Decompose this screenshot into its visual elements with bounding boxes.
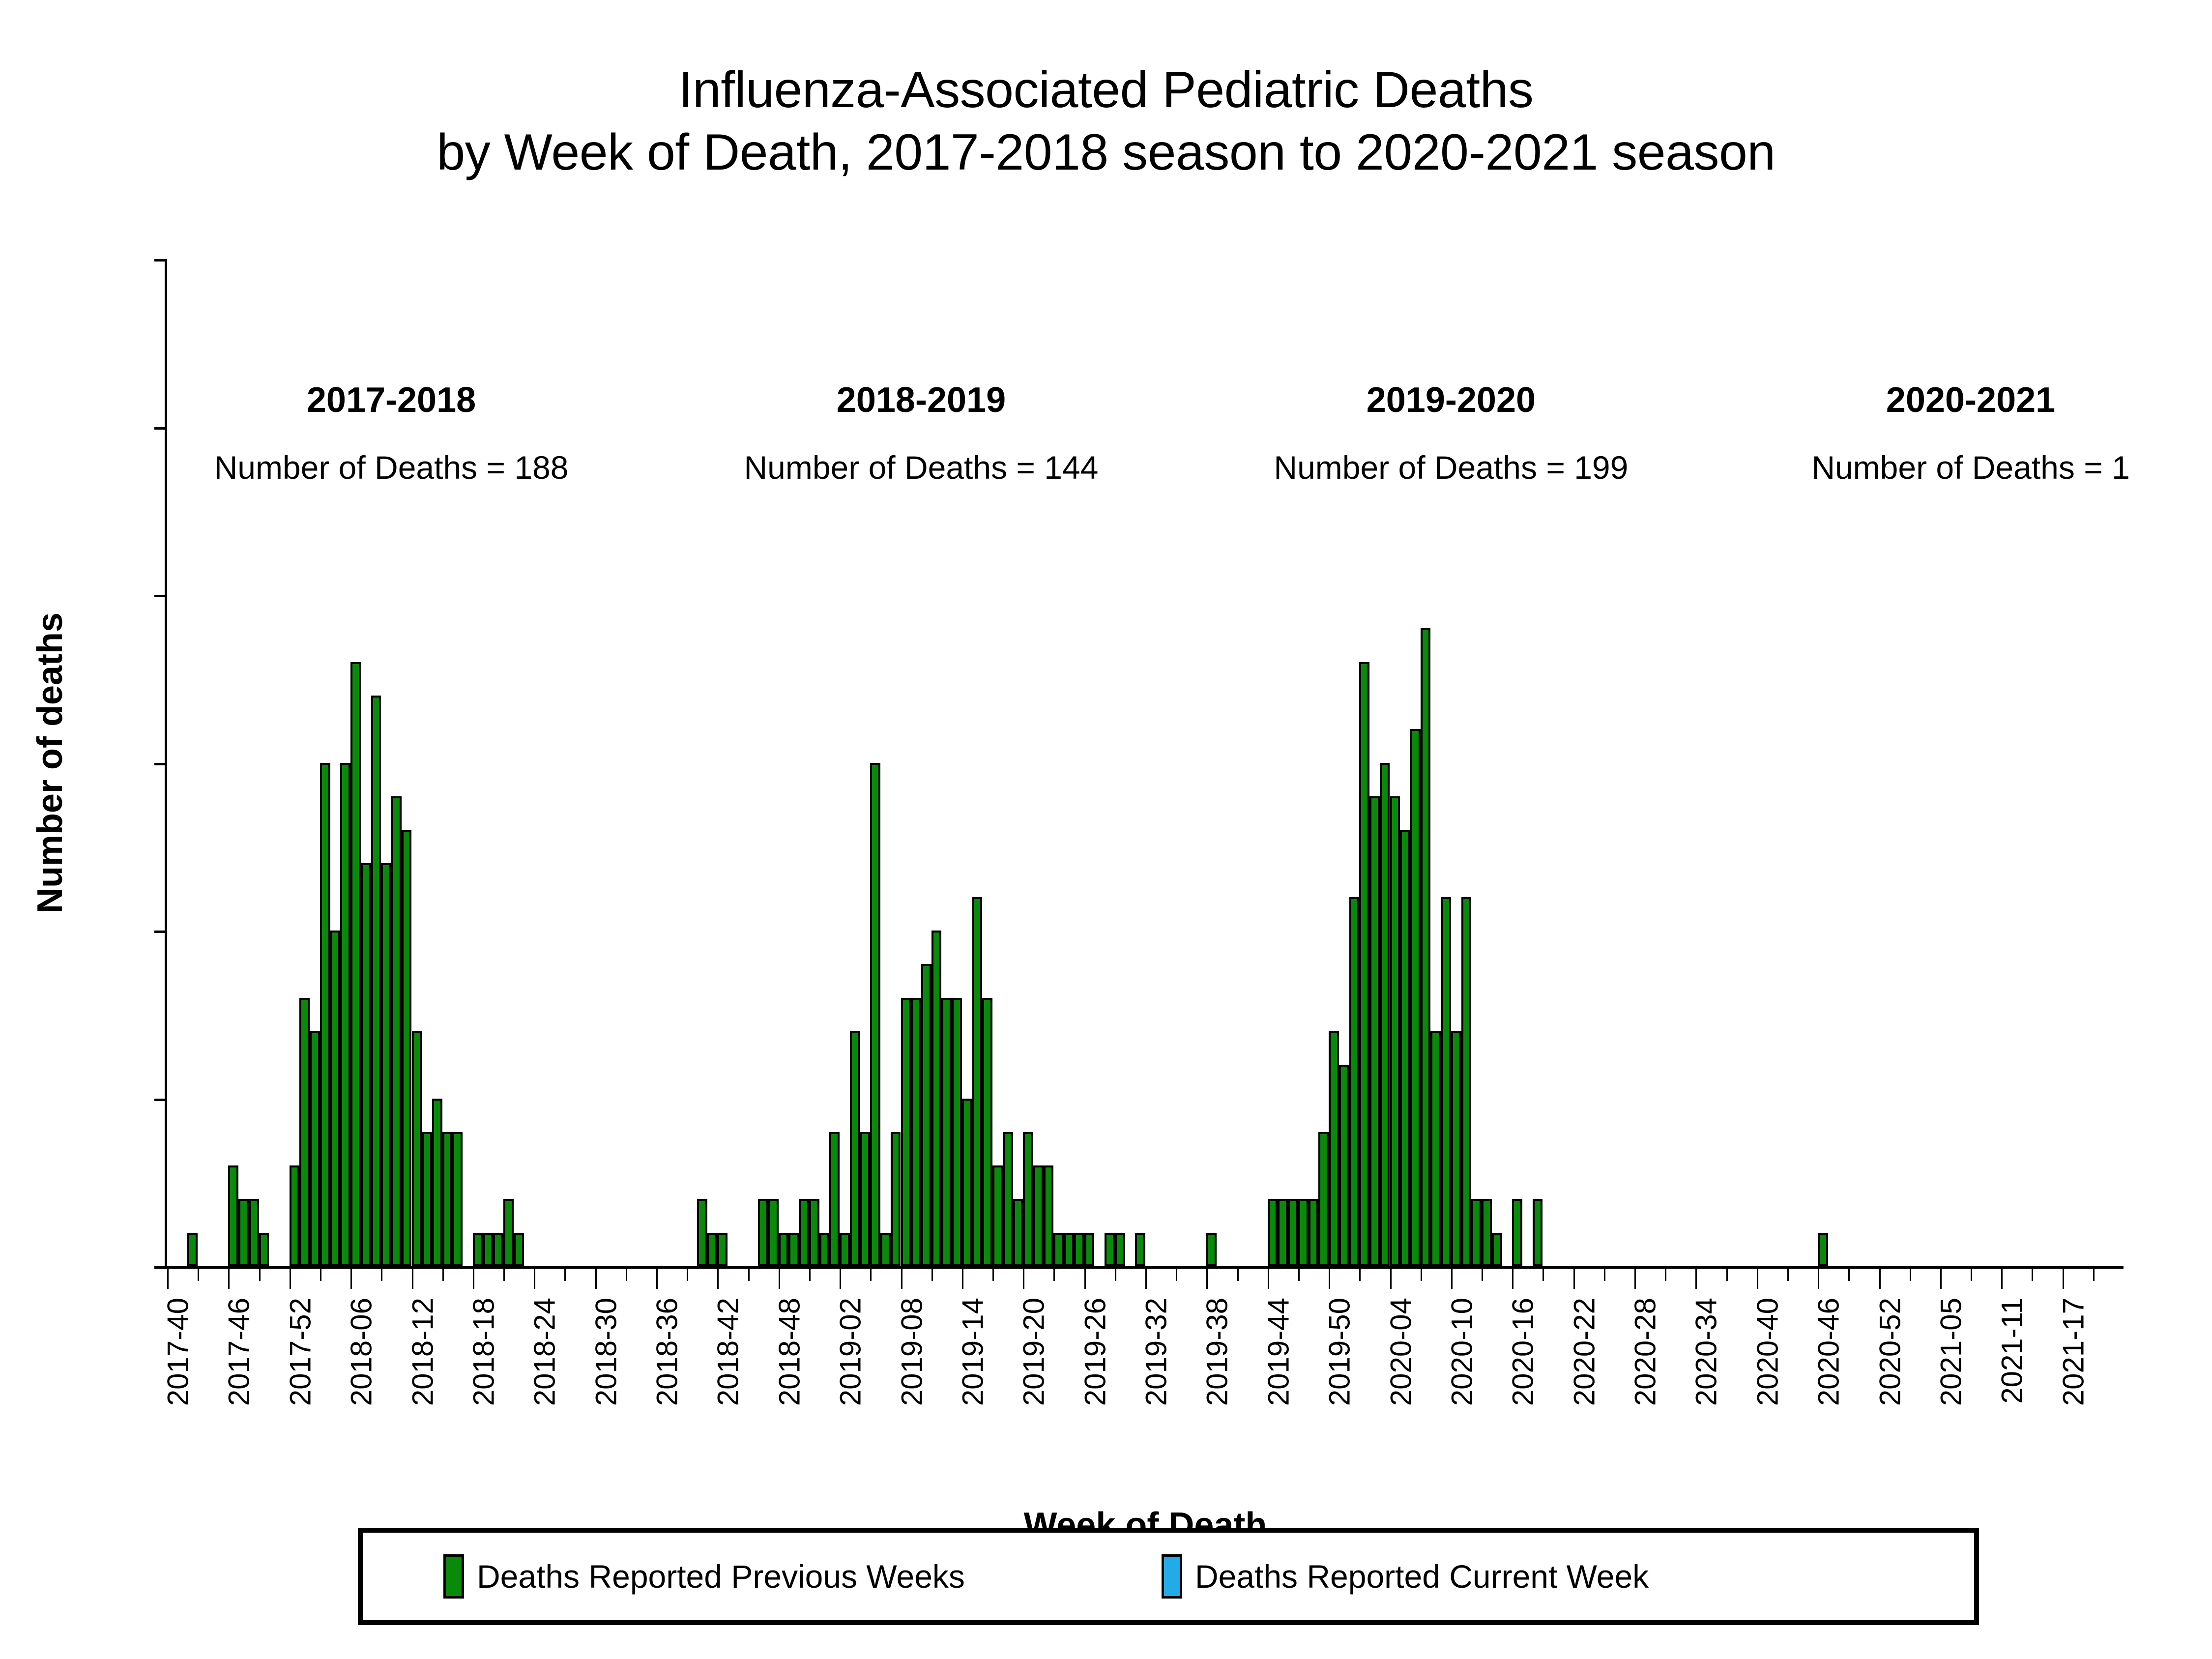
bar (891, 1132, 901, 1266)
x-axis-tick-label: 2018-12 (406, 1298, 439, 1406)
x-axis-tick-label: 2020-04 (1384, 1298, 1418, 1406)
bar (361, 863, 371, 1266)
bar (1003, 1132, 1013, 1266)
bar (1349, 897, 1360, 1266)
bar (1339, 1065, 1349, 1266)
x-axis-tick-minor (198, 1266, 199, 1281)
x-axis-tick-minor (1665, 1266, 1666, 1281)
bar (982, 998, 992, 1266)
x-axis-tick-major (290, 1266, 291, 1289)
x-axis-tick-major (1206, 1266, 1208, 1289)
bar (290, 1165, 300, 1266)
bar (941, 998, 952, 1266)
legend: Deaths Reported Previous Weeks Deaths Re… (358, 1528, 1979, 1625)
bar (870, 763, 880, 1267)
legend-label-previous-weeks: Deaths Reported Previous Weeks (477, 1558, 965, 1595)
bar (860, 1132, 871, 1266)
y-axis-tick (154, 1266, 167, 1269)
x-axis-tick-minor (931, 1266, 933, 1281)
x-axis-tick-label: 2018-18 (466, 1298, 500, 1406)
y-axis-tick (154, 427, 167, 430)
x-axis-tick-major (534, 1266, 535, 1289)
season-annotation: 2017-2018Number of Deaths = 188 (214, 380, 569, 486)
x-axis-tick-major (2001, 1266, 2003, 1289)
y-axis-tick (154, 931, 167, 933)
bar (1461, 897, 1472, 1266)
bar (972, 897, 983, 1266)
x-axis-tick-major (228, 1266, 230, 1289)
bar (228, 1165, 238, 1266)
y-axis-tick (154, 595, 167, 597)
bar (238, 1199, 249, 1266)
x-axis-tick-label: 2020-16 (1506, 1298, 1540, 1406)
bar (1369, 796, 1380, 1266)
x-axis-tick-minor (2093, 1266, 2095, 1281)
x-axis-tick-minor (626, 1266, 627, 1281)
x-axis-tick-major (595, 1266, 597, 1289)
season-annotation: 2018-2019Number of Deaths = 144 (744, 380, 1098, 486)
bar (514, 1233, 524, 1266)
x-axis-tick-minor (1848, 1266, 1850, 1281)
x-axis-tick-minor (1604, 1266, 1605, 1281)
x-axis-tick-major (656, 1266, 658, 1289)
bar (880, 1233, 891, 1266)
bar (1298, 1199, 1309, 1266)
x-axis-tick-minor (1910, 1266, 1911, 1281)
x-axis-tick-label: 2020-10 (1445, 1298, 1479, 1406)
bar (1492, 1233, 1502, 1266)
x-axis-tick-minor (1421, 1266, 1422, 1281)
bar (1044, 1165, 1054, 1266)
bar (1105, 1233, 1115, 1266)
y-axis-tick (154, 1099, 167, 1101)
x-axis-tick-label: 2019-26 (1078, 1298, 1112, 1406)
legend-item-current-week: Deaths Reported Current Week (1162, 1554, 1649, 1599)
x-axis-tick-major (167, 1266, 169, 1289)
bar (1033, 1165, 1044, 1266)
x-axis-tick-label: 2018-42 (711, 1298, 745, 1406)
x-axis-tick-major (1940, 1266, 1942, 1289)
season-death-count: Number of Deaths = 144 (744, 449, 1098, 486)
bar (1309, 1199, 1319, 1266)
x-axis-tick-major (1695, 1266, 1697, 1289)
x-axis-tick-label: 2020-52 (1873, 1298, 1907, 1406)
x-axis-tick-major (1818, 1266, 1819, 1289)
bar (1533, 1199, 1543, 1266)
bar (1053, 1233, 1064, 1266)
x-axis-tick-minor (381, 1266, 382, 1281)
bar (187, 1233, 198, 1266)
x-axis-tick-minor (687, 1266, 688, 1281)
x-axis-tick-major (1084, 1266, 1086, 1289)
bar (1482, 1199, 1492, 1266)
x-axis-tick-minor (1359, 1266, 1361, 1281)
bar (299, 998, 310, 1266)
bar (1115, 1233, 1125, 1266)
x-axis-tick-label: 2017-52 (283, 1298, 317, 1406)
bar (1359, 662, 1369, 1266)
bar (412, 1031, 422, 1266)
bar (1451, 1031, 1461, 1266)
x-axis-tick-minor (503, 1266, 505, 1281)
bar (799, 1199, 809, 1266)
bar (1329, 1031, 1339, 1266)
season-death-count: Number of Deaths = 1 (1811, 449, 2130, 486)
bar (442, 1132, 453, 1266)
x-axis-tick-label: 2020-46 (1812, 1298, 1846, 1406)
x-axis-tick-label: 2020-22 (1567, 1298, 1601, 1406)
x-axis-tick-label: 2017-40 (161, 1298, 195, 1406)
bar (992, 1165, 1003, 1266)
bar (310, 1031, 320, 1266)
x-axis-tick-major (1757, 1266, 1758, 1289)
bar (1512, 1199, 1522, 1266)
season-death-count: Number of Deaths = 188 (214, 449, 569, 486)
x-axis-tick-minor (1482, 1266, 1483, 1281)
x-axis-tick-major (350, 1266, 352, 1289)
y-axis-tick (154, 763, 167, 765)
bar (952, 998, 962, 1266)
x-axis-tick-label: 2018-06 (345, 1298, 378, 1406)
x-axis-tick-minor (1176, 1266, 1177, 1281)
x-axis-tick-label: 2018-30 (589, 1298, 623, 1406)
x-axis-tick-label: 2020-28 (1629, 1298, 1662, 1406)
x-axis-tick-minor (748, 1266, 750, 1281)
x-axis-tick-label: 2017-46 (222, 1298, 256, 1406)
x-axis-tick-minor (1971, 1266, 1972, 1281)
bar (788, 1233, 799, 1266)
bar (921, 964, 931, 1266)
x-axis-tick-label: 2019-02 (834, 1298, 868, 1406)
x-axis-tick-minor (442, 1266, 444, 1281)
plot-area: Number of deaths 051015202530 2017-40201… (165, 259, 2124, 1269)
bar (1288, 1199, 1298, 1266)
x-axis-tick-label: 2019-08 (895, 1298, 929, 1406)
bar (1074, 1233, 1084, 1266)
bar (1023, 1132, 1033, 1266)
bar (320, 763, 330, 1267)
x-axis-tick-major (1268, 1266, 1269, 1289)
bar (901, 998, 911, 1266)
bar (819, 1233, 830, 1266)
bar (809, 1199, 819, 1266)
bar (697, 1199, 707, 1266)
bar (452, 1132, 463, 1266)
bar (371, 696, 381, 1266)
legend-swatch-current-week (1162, 1554, 1182, 1599)
bar (432, 1099, 442, 1267)
bar (1421, 628, 1431, 1266)
bar (391, 796, 402, 1266)
bar (1471, 1199, 1482, 1266)
y-axis-tick (154, 259, 167, 262)
x-axis-tick-major (840, 1266, 841, 1289)
x-axis-tick-minor (992, 1266, 994, 1281)
bar (1268, 1199, 1278, 1266)
bar (962, 1099, 972, 1267)
x-axis-tick-major (1145, 1266, 1147, 1289)
x-axis-tick-major (2063, 1266, 2064, 1289)
bar (717, 1233, 728, 1266)
x-axis-tick-major (901, 1266, 902, 1289)
x-axis-tick-major (779, 1266, 780, 1289)
bar (483, 1233, 494, 1266)
bar (779, 1233, 789, 1266)
x-axis-tick-minor (1787, 1266, 1789, 1281)
title-line-2: by Week of Death, 2017-2018 season to 20… (0, 121, 2212, 184)
legend-label-current-week: Deaths Reported Current Week (1195, 1558, 1649, 1595)
x-axis-tick-minor (870, 1266, 872, 1281)
bar (1441, 897, 1451, 1266)
x-axis-tick-label: 2019-14 (956, 1298, 990, 1406)
season-name: 2020-2021 (1811, 380, 2130, 420)
legend-swatch-previous-weeks (443, 1554, 464, 1599)
bar (1430, 1031, 1441, 1266)
x-axis-tick-label: 2020-40 (1750, 1298, 1784, 1406)
x-axis-tick-label: 2018-24 (528, 1298, 562, 1406)
bar (422, 1132, 432, 1266)
x-axis-tick-label: 2021-05 (1934, 1298, 1968, 1406)
bar (1390, 796, 1400, 1266)
bar (1135, 1233, 1145, 1266)
x-axis-tick-label: 2019-38 (1200, 1298, 1234, 1406)
x-axis-tick-major (1879, 1266, 1881, 1289)
x-axis-tick-label: 2020-34 (1689, 1298, 1723, 1406)
x-axis-tick-major (1573, 1266, 1575, 1289)
x-axis-tick-major (1512, 1266, 1513, 1289)
x-axis-tick-minor (1543, 1266, 1544, 1281)
bar (829, 1132, 840, 1266)
bar (381, 863, 391, 1266)
bar (707, 1233, 718, 1266)
x-axis-tick-major (1390, 1266, 1392, 1289)
x-axis-tick-label: 2018-36 (650, 1298, 684, 1406)
x-axis-tick-minor (2032, 1266, 2033, 1281)
chart-page: Influenza-Associated Pediatric Deaths by… (0, 0, 2212, 1659)
x-axis-tick-minor (1115, 1266, 1116, 1281)
bar (1013, 1199, 1023, 1266)
bar (493, 1233, 503, 1266)
season-annotation: 2020-2021Number of Deaths = 1 (1811, 380, 2130, 486)
x-axis-tick-label: 2019-44 (1261, 1298, 1295, 1406)
x-axis-tick-label: 2019-20 (1017, 1298, 1051, 1406)
season-name: 2017-2018 (214, 380, 569, 420)
legend-item-previous-weeks: Deaths Reported Previous Weeks (443, 1554, 965, 1599)
bar (340, 763, 350, 1267)
x-axis-tick-major (1451, 1266, 1453, 1289)
bar (768, 1199, 779, 1266)
bar (1064, 1233, 1074, 1266)
x-axis-tick-minor (1298, 1266, 1300, 1281)
bar (931, 931, 942, 1266)
x-axis-tick-minor (809, 1266, 811, 1281)
season-name: 2018-2019 (744, 380, 1098, 420)
bar (1206, 1233, 1217, 1266)
x-axis-tick-major (412, 1266, 413, 1289)
y-axis-title: Number of deaths (30, 612, 70, 913)
season-death-count: Number of Deaths = 199 (1274, 449, 1628, 486)
x-axis-tick-minor (1237, 1266, 1239, 1281)
x-axis-tick-label: 2021-11 (1995, 1298, 2029, 1404)
bar (503, 1199, 514, 1266)
x-axis-tick-major (1023, 1266, 1024, 1289)
bar (1818, 1233, 1828, 1266)
x-axis-tick-label: 2019-50 (1323, 1298, 1357, 1406)
bar (350, 662, 361, 1266)
x-axis-tick-minor (320, 1266, 321, 1281)
title-line-1: Influenza-Associated Pediatric Deaths (0, 59, 2212, 121)
page-title: Influenza-Associated Pediatric Deaths by… (0, 59, 2212, 184)
bar (840, 1233, 850, 1266)
bar (1380, 763, 1390, 1267)
x-axis-tick-major (1634, 1266, 1636, 1289)
x-axis-tick-minor (1053, 1266, 1055, 1281)
season-annotation: 2019-2020Number of Deaths = 199 (1274, 380, 1628, 486)
x-axis-tick-major (473, 1266, 474, 1289)
x-axis-tick-label: 2021-17 (2056, 1298, 2090, 1406)
x-axis-tick-minor (259, 1266, 261, 1281)
x-axis-tick-major (962, 1266, 963, 1289)
x-axis-tick-minor (564, 1266, 566, 1281)
bar (473, 1233, 483, 1266)
bar (1400, 830, 1410, 1266)
bar (1084, 1233, 1095, 1266)
x-axis-tick-major (717, 1266, 719, 1289)
bar (249, 1199, 259, 1266)
bar (850, 1031, 860, 1266)
bar (758, 1199, 768, 1266)
x-axis-tick-label: 2019-32 (1139, 1298, 1173, 1406)
bar (259, 1233, 269, 1266)
x-axis-tick-major (1329, 1266, 1330, 1289)
bar (1278, 1199, 1288, 1266)
x-axis-tick-label: 2018-48 (772, 1298, 806, 1406)
bar (402, 830, 412, 1266)
season-name: 2019-2020 (1274, 380, 1628, 420)
bar (911, 998, 921, 1266)
bar (1410, 729, 1421, 1266)
x-axis-tick-minor (1726, 1266, 1728, 1281)
bar (330, 931, 341, 1266)
bar (1318, 1132, 1329, 1266)
